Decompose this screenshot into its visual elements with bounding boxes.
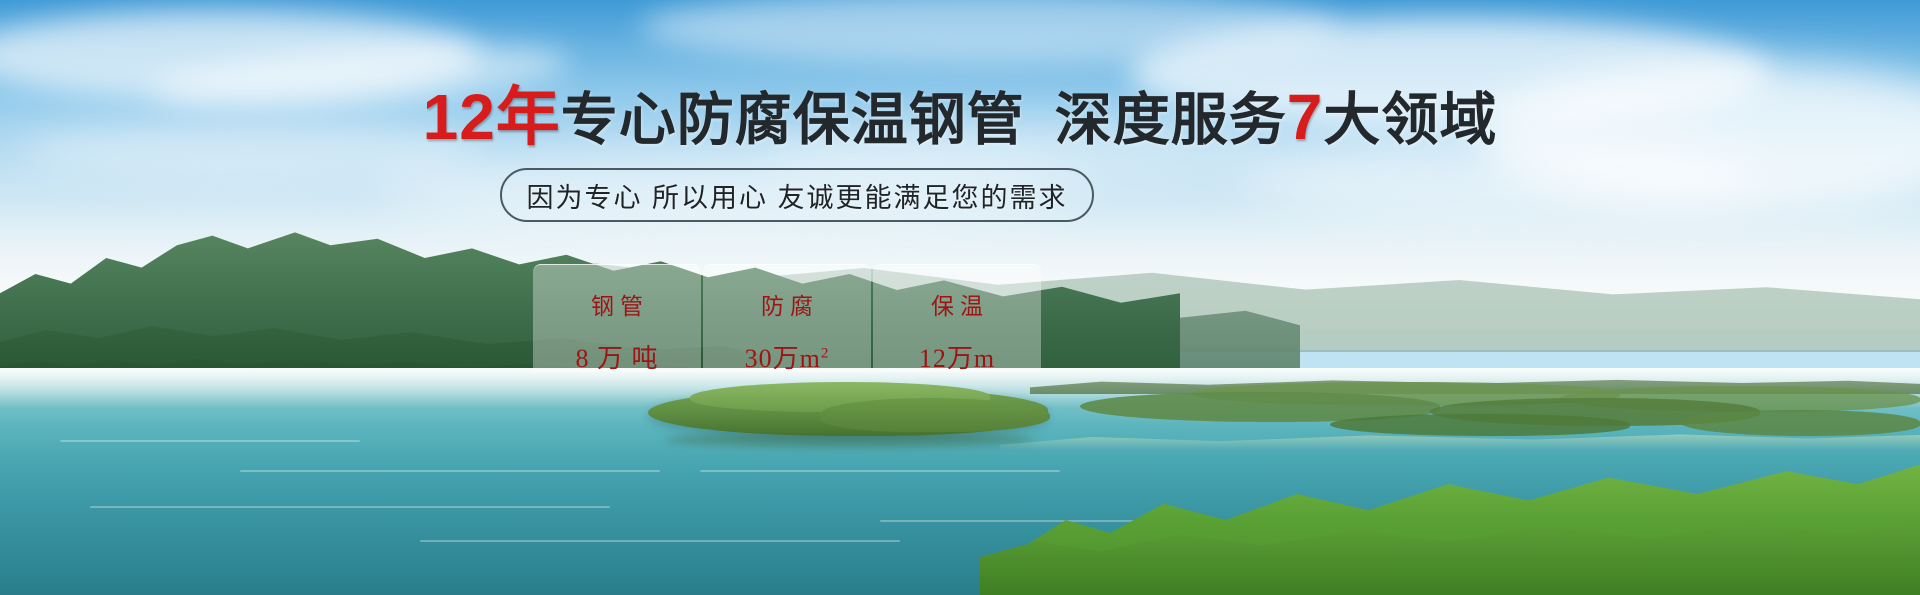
stat-card-label: 钢管 [585,287,649,321]
stat-card-steel-pipe: 钢管 8 万 吨 [533,264,701,372]
subtitle-pill: 因为专心 所以用心 友诚更能满足您的需求 [500,168,1094,222]
stat-card-value-text: 30万m [745,344,821,373]
page-title: 12年专心防腐保温钢管深度服务7大领域 [0,86,1920,151]
stat-card-label: 保温 [925,287,989,321]
stat-card-value-text: 8 万 吨 [575,344,658,373]
water-ripple [90,506,610,508]
water-ripple [60,440,360,442]
water-ripple [420,540,900,542]
stat-card-value-text: 12万m [919,344,995,373]
headline-fields-text: 大领域 [1323,88,1497,152]
headline-service-text: 深度服务 [1055,88,1287,152]
hero-banner: 12年专心防腐保温钢管深度服务7大领域 因为专心 所以用心 友诚更能满足您的需求… [0,0,1920,595]
headline-years-unit: 年 [496,81,561,153]
stat-card-insulation: 保温 12万m [873,264,1041,372]
water-ripple [240,470,660,472]
stat-card-value: 30万m2 [745,338,830,375]
subtitle-text: 因为专心 所以用心 友诚更能满足您的需求 [526,176,1067,215]
headline-main-text: 专心防腐保温钢管 [561,88,1025,152]
stat-card-anticorrosion: 防腐 30万m2 [703,264,871,372]
headline-years-number: 12 [423,81,496,153]
stat-card-value: 8 万 吨 [575,338,658,375]
headline-fields-number: 7 [1287,81,1324,153]
water-ripple [700,470,1060,472]
stat-card-group: 钢管 8 万 吨 防腐 30万m2 保温 12万m [533,264,1041,372]
stat-card-label: 防腐 [755,287,819,321]
stat-card-value-superscript: 2 [821,345,830,361]
stat-card-value: 12万m [919,338,995,375]
grass-island [820,398,1050,432]
